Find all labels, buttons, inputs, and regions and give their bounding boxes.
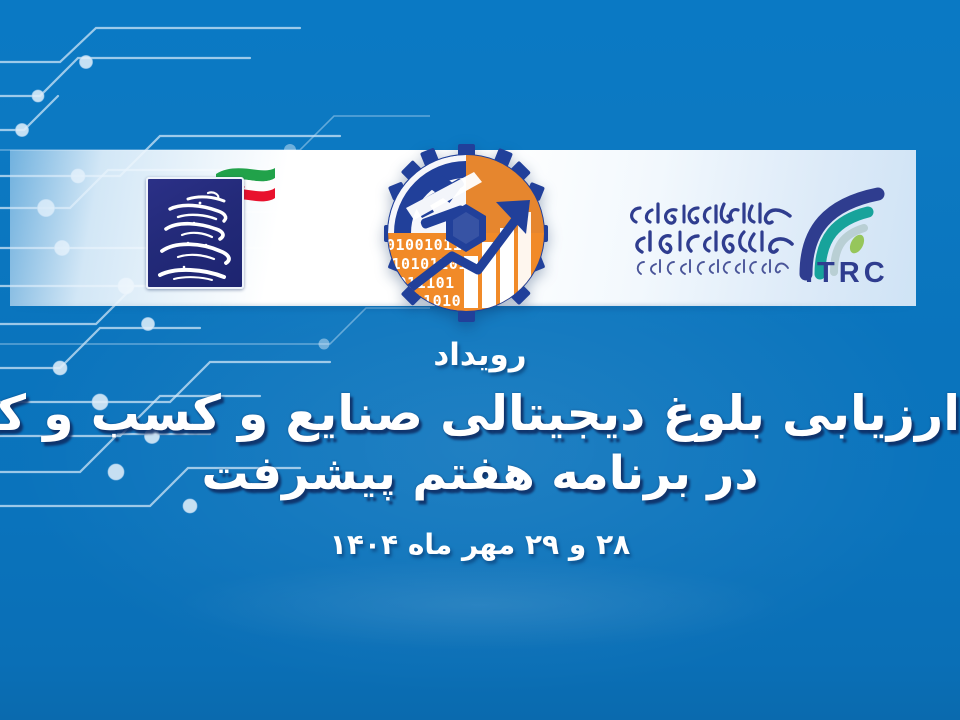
digital-maturity-gear-logo: 01001011 0101011011 1011101 011010 [378, 138, 554, 328]
itrc-acronym: ITRC [805, 257, 889, 286]
event-date: ۲۸ و ۲۹ مهر ماه ۱۴۰۴ [0, 528, 960, 561]
itrc-persian-line1 [632, 204, 790, 223]
itrc-persian-line3 [638, 260, 788, 274]
poster-title-line-1: ارزیابی بلوغ دیجیتالی صنایع و کسب و کاره… [0, 387, 960, 442]
event-label: رویداد [0, 336, 960, 375]
ministry-of-ict-logo [140, 168, 260, 293]
poster-title-line-2: در برنامه هفتم پیشرفت [0, 448, 960, 501]
ministry-calligraphy [148, 179, 244, 289]
poster-text-block: رویداد ارزیابی بلوغ دیجیتالی صنایع و کسب… [0, 336, 960, 561]
itrc-logo: ITRC [620, 186, 892, 286]
itrc-persian-line2 [637, 232, 792, 252]
event-poster: 01001011 0101011011 1011101 011010 [0, 0, 960, 720]
ministry-plaque [146, 177, 244, 289]
bottom-glow [180, 560, 780, 650]
